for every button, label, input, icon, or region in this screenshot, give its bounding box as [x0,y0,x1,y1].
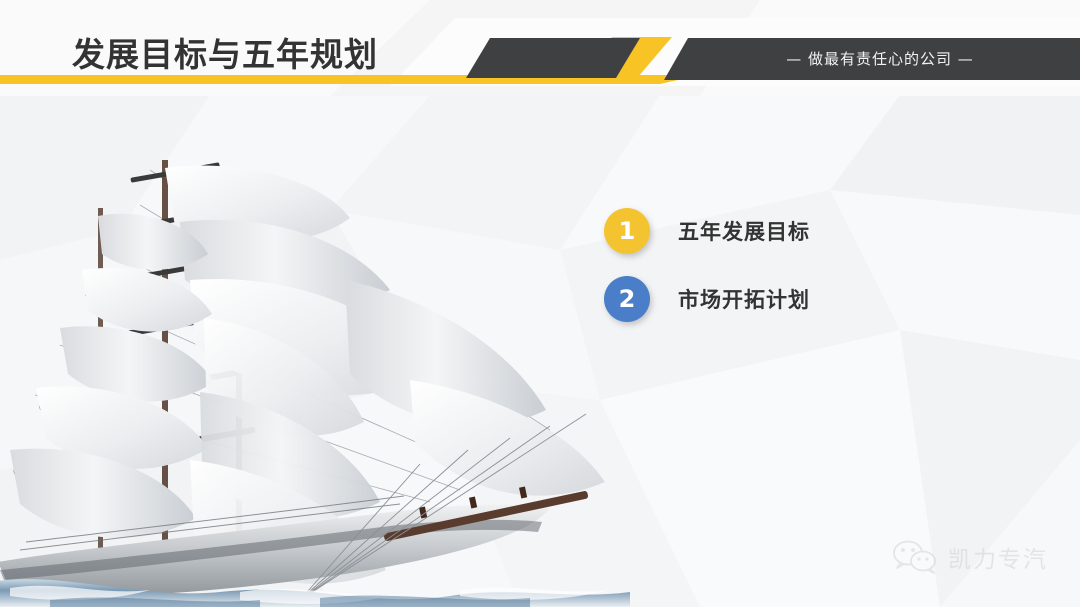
watermark-text: 凯力专汽 [948,540,1048,574]
sailing-ship-illustration [0,130,630,607]
wechat-icon [892,540,938,574]
agenda-item-2[interactable]: 2 市场开拓计划 [604,276,810,322]
agenda-badge-2: 2 [604,276,650,322]
slide-header: 发展目标与五年规划 — 做最有责任心的公司 — [0,0,1080,100]
watermark: 凯力专汽 [892,540,1048,574]
agenda-label-1: 五年发展目标 [678,216,810,246]
agenda-list: 1 五年发展目标 2 市场开拓计划 [604,208,810,344]
presentation-slide: 发展目标与五年规划 — 做最有责任心的公司 — [0,0,1080,607]
company-tagline: — 做最有责任心的公司 — [700,48,1060,69]
agenda-badge-1: 1 [604,208,650,254]
agenda-label-2: 市场开拓计划 [678,284,810,314]
agenda-item-1[interactable]: 1 五年发展目标 [604,208,810,254]
page-title: 发展目标与五年规划 [72,28,378,76]
